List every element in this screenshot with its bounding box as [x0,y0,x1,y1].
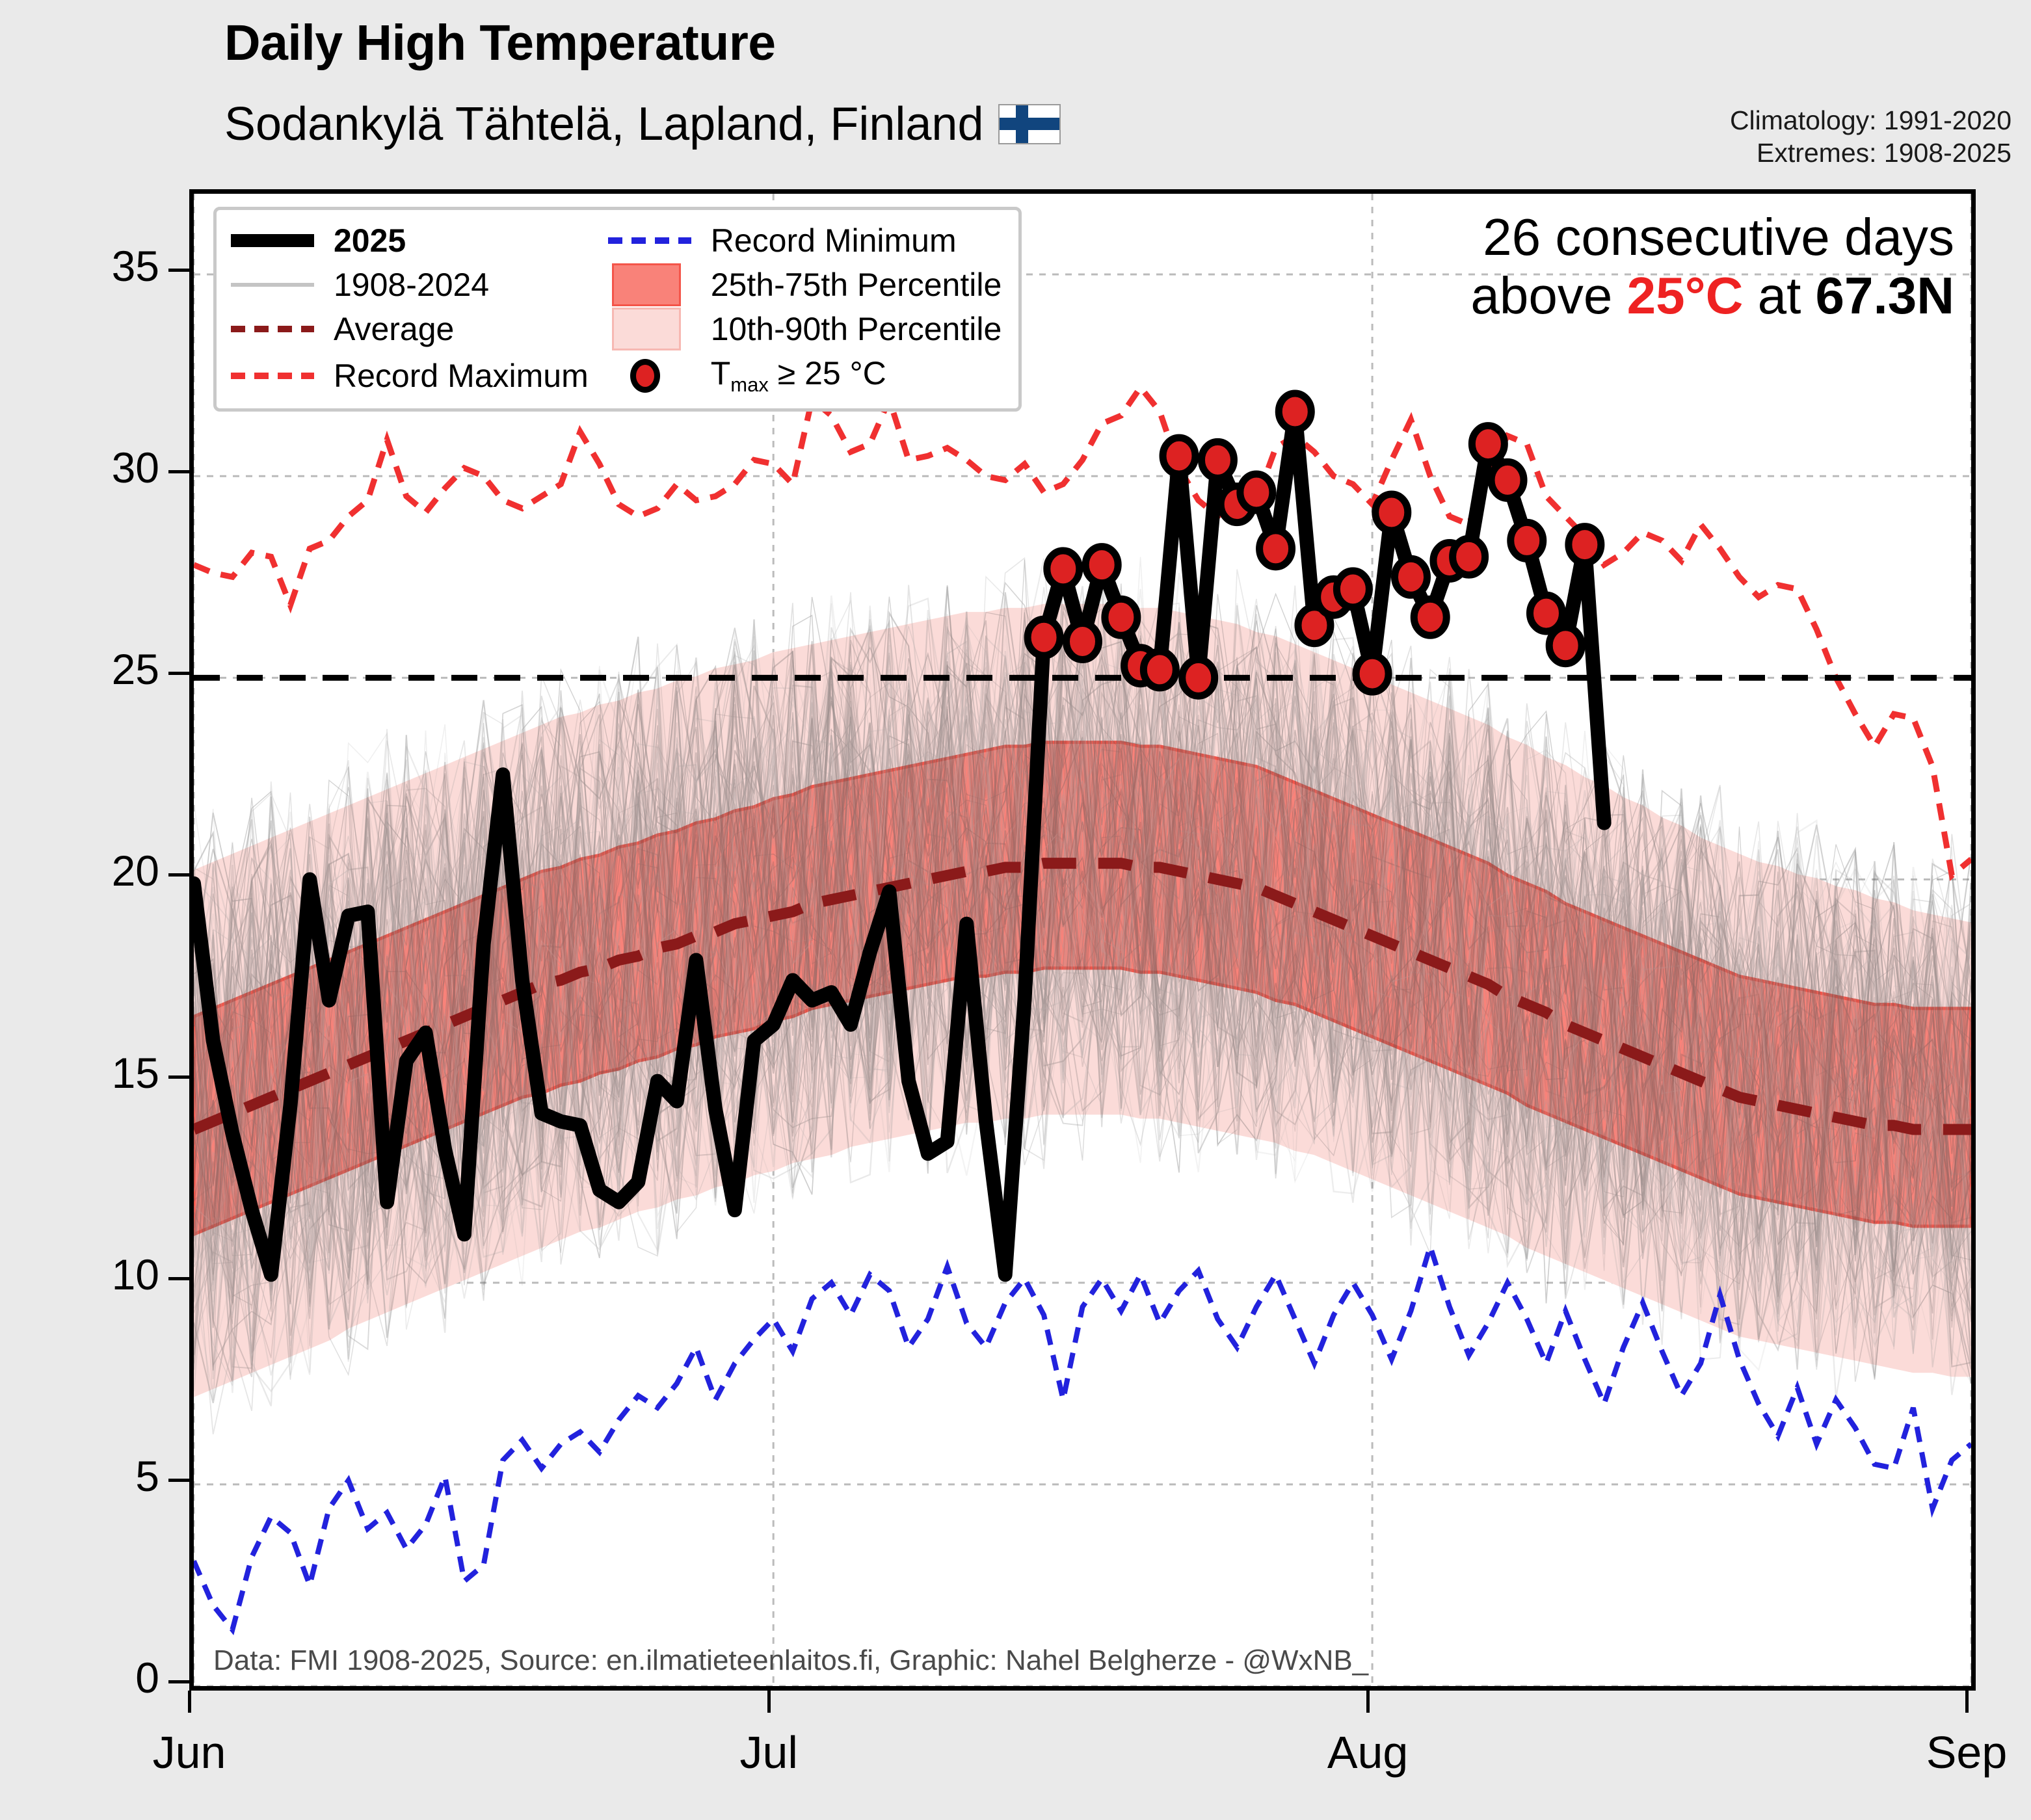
chart-page: Daily High Temperature Sodankylä Tähtelä… [0,0,2031,1820]
credit-text: Data: FMI 1908-2025, Source: en.ilmatiet… [213,1644,1368,1677]
hot-day-marker [1163,438,1195,474]
x-tick-label-jul: Jul [671,1726,866,1778]
headline-annotation: 26 consecutive days above 25°C at 67.3N [1470,208,1954,324]
hot-day-marker [1067,624,1099,660]
legend-key-thick-black-line [231,228,314,254]
legend-key-blue-dashed-line [608,228,691,254]
y-tick [168,269,189,272]
y-tick-label: 20 [36,846,159,895]
x-tick [767,1691,771,1713]
hot-day-marker [1511,522,1543,559]
chart-legend[interactable]: 2025Record Minimum1908-202425th-75th Per… [213,207,1022,412]
plot-area: 2025Record Minimum1908-202425th-75th Per… [189,189,1976,1691]
hot-day-marker [1047,551,1080,587]
hot-day-marker [1240,474,1273,510]
x-tick-label-sep: Sep [1869,1726,2031,1778]
hot-day-marker [1472,426,1504,462]
legend-label: 2025 [334,222,589,259]
y-tick [168,672,189,675]
legend-label: 1908-2024 [334,266,589,304]
x-tick [188,1691,191,1713]
y-tick [168,1680,189,1683]
y-tick-label: 10 [36,1250,159,1299]
subtitle-row: Sodankylä Tähtelä, Lapland, Finland [224,98,1061,151]
y-tick-label: 0 [36,1653,159,1702]
climatology-period: Climatology: 1991-2020 [1730,104,2011,137]
x-tick [1366,1691,1370,1713]
annotation-line-1: 26 consecutive days [1470,208,1954,267]
y-tick [168,1075,189,1079]
legend-label: Record Minimum [711,222,1002,259]
hot-day-marker [1105,599,1137,635]
legend-label: 25th-75th Percentile [711,266,1002,304]
hot-day-marker [1453,538,1485,575]
y-tick-label: 30 [36,443,159,492]
finland-flag-icon [998,104,1061,144]
hot-day-marker [1143,652,1176,688]
y-tick-label: 25 [36,644,159,694]
legend-key-salmon-swatch [608,272,691,298]
legend-key-red-dashed-line [231,363,314,389]
y-tick-label: 35 [36,241,159,291]
hot-day-marker [1549,627,1582,664]
annotation-line-2: above 25°C at 67.3N [1470,267,1954,325]
legend-key-red-dot-marker [608,363,691,389]
legend-label: 10th-90th Percentile [711,310,1002,348]
hot-day-marker [1375,494,1408,531]
hot-day-marker [1260,531,1292,567]
page-title: Daily High Temperature [224,14,776,72]
annotation-mid: at [1743,267,1815,324]
legend-label: Average [334,310,589,348]
hot-day-marker [1336,571,1369,607]
annotation-prefix: above [1470,267,1626,324]
hot-day-marker [1491,462,1524,498]
legend-label: Record Maximum [334,357,589,395]
chart-canvas [194,194,1971,1686]
hot-day-marker [1395,559,1427,595]
y-tick-label: 5 [36,1451,159,1501]
annotation-threshold: 25°C [1627,267,1744,324]
y-tick-label: 15 [36,1048,159,1098]
extremes-period: Extremes: 1908-2025 [1730,137,2011,169]
legend-key-darkred-dashed-line [231,316,314,342]
hot-day-marker [1182,659,1215,696]
y-tick [168,1479,189,1482]
dataset-period-info: Climatology: 1991-2020 Extremes: 1908-20… [1730,104,2011,169]
annotation-latitude: 67.3N [1816,267,1954,324]
hot-day-marker [1028,619,1060,655]
hot-day-marker [1569,527,1601,563]
x-tick-label-aug: Aug [1270,1726,1465,1778]
y-tick [168,873,189,877]
legend-key-pink-swatch [608,316,691,342]
legend-label: Tmax ≥ 25 °C [711,354,1002,397]
hot-day-marker [1201,442,1234,478]
x-tick [1965,1691,1969,1713]
hot-day-marker [1414,599,1446,635]
legend-key-thin-grey-line [231,272,314,298]
hot-day-marker [1279,393,1311,430]
hot-day-marker [1085,547,1118,583]
y-tick [168,1277,189,1280]
page-subtitle: Sodankylä Tähtelä, Lapland, Finland [224,98,984,151]
hot-day-marker [1356,655,1388,692]
x-tick-label-jun: Jun [92,1726,287,1778]
y-tick [168,470,189,473]
